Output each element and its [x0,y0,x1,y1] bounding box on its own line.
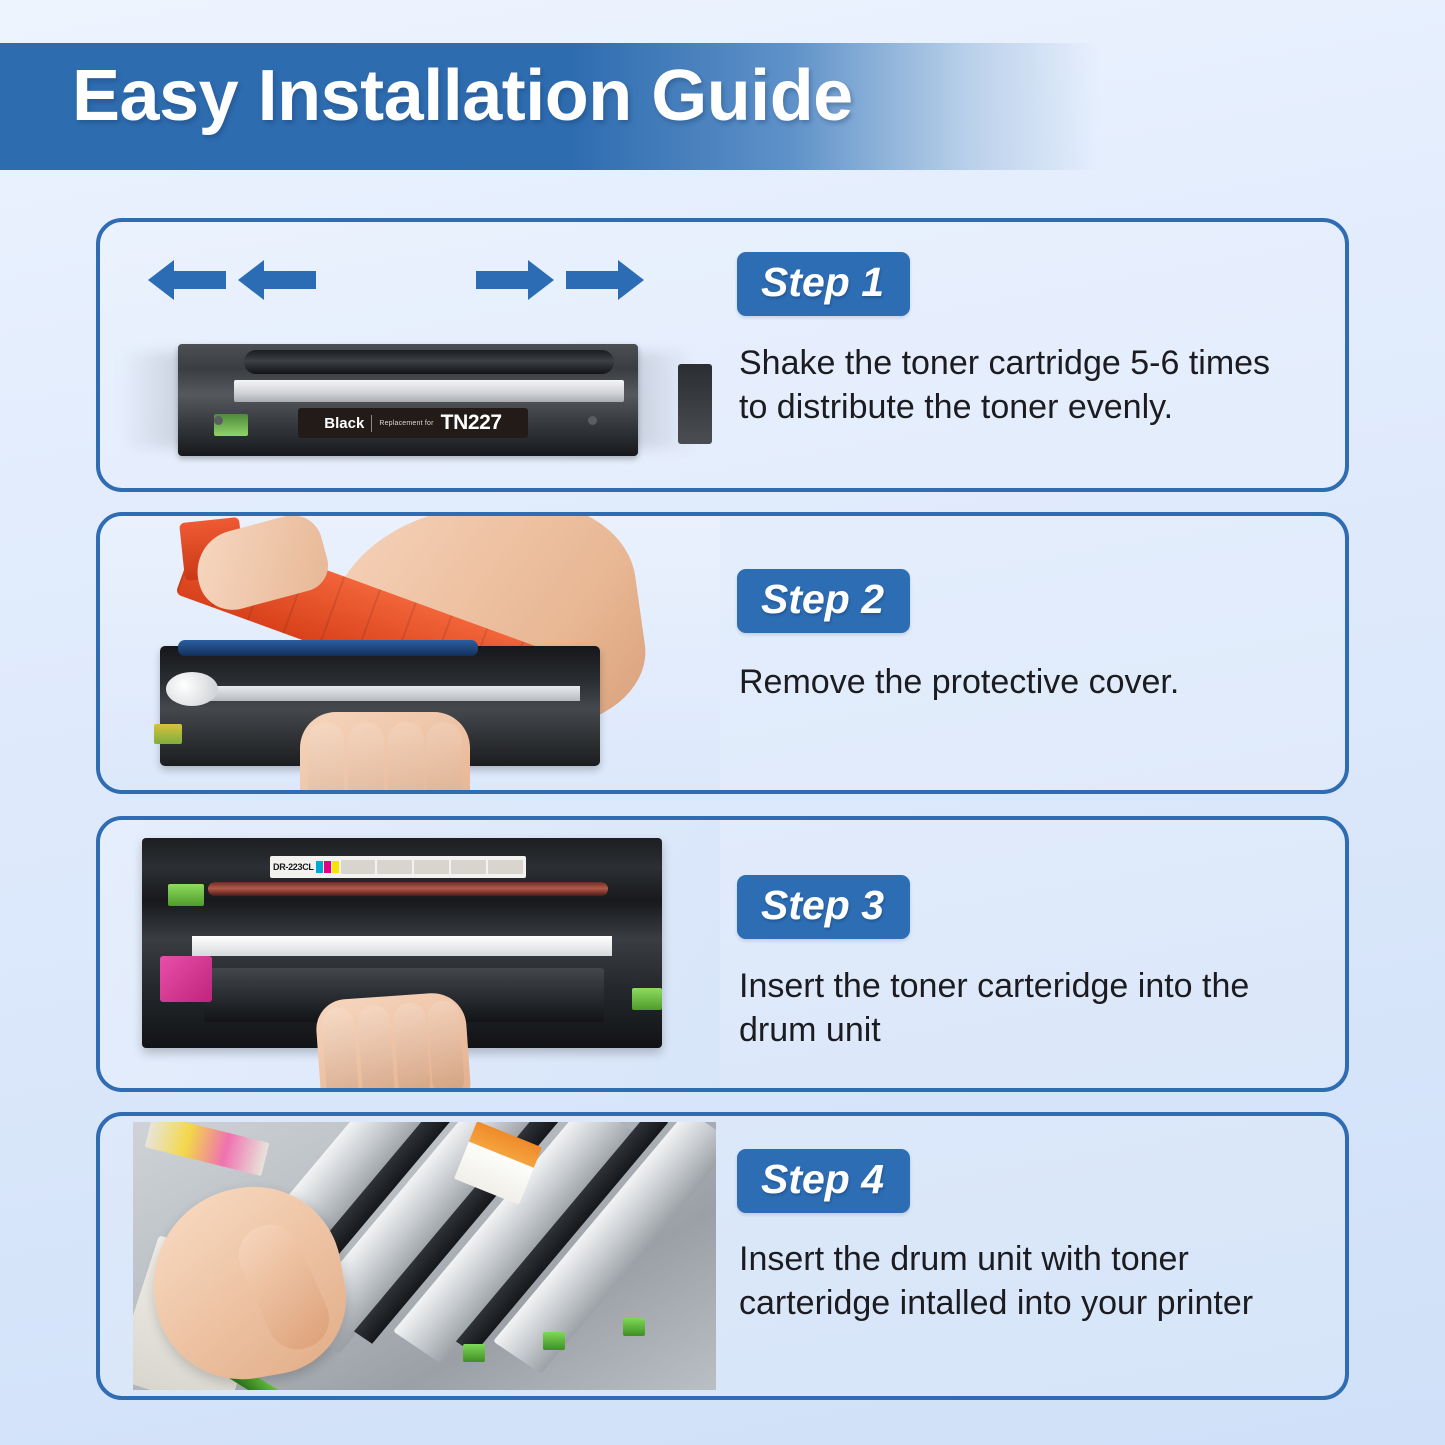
supporting-hand [314,991,471,1088]
step-2-badge: Step 2 [737,569,910,633]
arrow-left-icon [148,258,226,302]
white-roller [166,672,218,706]
step-3-text: Step 3 Insert the toner carteridge into … [737,820,1345,1088]
cartridge-body: Black Replacement for TN227 [178,344,638,456]
step-1-visual: Black Replacement for TN227 [100,222,720,488]
green-slider [623,1318,645,1336]
cartridge-color-name: Black [324,415,364,432]
remove-cover-photo [100,516,720,790]
step-2-description: Remove the protective cover. [739,661,1299,705]
step-4-text: Step 4 Insert the drum unit with toner c… [737,1116,1345,1396]
step-card-1: Black Replacement for TN227 Step 1 Shake… [96,218,1349,492]
step-4-visual [100,1116,720,1396]
step-1-text: Step 1 Shake the toner cartridge 5-6 tim… [737,222,1345,488]
silver-bar [200,686,580,701]
step-2-visual [100,516,720,790]
cartridge-model: TN227 [441,411,502,435]
cartridge-replacement-text: Replacement for [379,420,433,427]
green-slider [463,1344,485,1362]
printer-interior-photo [133,1122,716,1390]
cartridge-silver-strip [234,380,624,402]
step-3-description: Insert the toner carteridge into the dru… [739,965,1299,1052]
toner-cartridge-photo: Black Replacement for TN227 [118,334,698,464]
step-card-3: DR-223CL [96,816,1349,1092]
cartridge-screw [588,416,597,425]
drum-unit-label: DR-223CL [270,856,526,878]
arrow-right-icon [566,258,644,302]
cmyk-swatches [316,861,339,873]
cartridge-chip [154,724,182,744]
drum-model-code: DR-223CL [273,862,314,872]
toner-color-indicators [145,1122,270,1176]
step-3-badge: Step 3 [737,875,910,939]
magenta-lever [160,956,212,1002]
step-1-badge: Step 1 [737,252,910,316]
step-2-text: Step 2 Remove the protective cover. [737,516,1345,790]
page-title: Easy Installation Guide [72,60,853,132]
step-card-2: Step 2 Remove the protective cover. [96,512,1349,794]
step-3-visual: DR-223CL [100,820,720,1088]
green-slider-right [632,988,662,1010]
step-card-4: Step 4 Insert the drum unit with toner c… [96,1112,1349,1400]
cartridge-screw [214,416,223,425]
blue-top-edge [178,640,478,656]
arrow-right-icon [476,258,554,302]
cartridge-label: Black Replacement for TN227 [298,408,528,438]
cartridge-roller [244,350,614,374]
warning-icons [341,860,523,874]
supporting-hand [300,712,470,790]
green-slider [543,1332,565,1350]
step-1-description: Shake the toner cartridge 5-6 times to d… [739,342,1299,429]
green-slider-left [168,884,204,906]
step-4-badge: Step 4 [737,1149,910,1213]
shake-arrows [140,250,680,310]
cartridge-endcap [678,364,712,444]
drum-unit-photo: DR-223CL [100,820,720,1088]
white-bar [192,936,612,956]
step-4-description: Insert the drum unit with toner carterid… [739,1238,1299,1325]
label-divider [371,415,372,432]
drum-roller [208,882,608,896]
arrow-left-icon [238,258,316,302]
